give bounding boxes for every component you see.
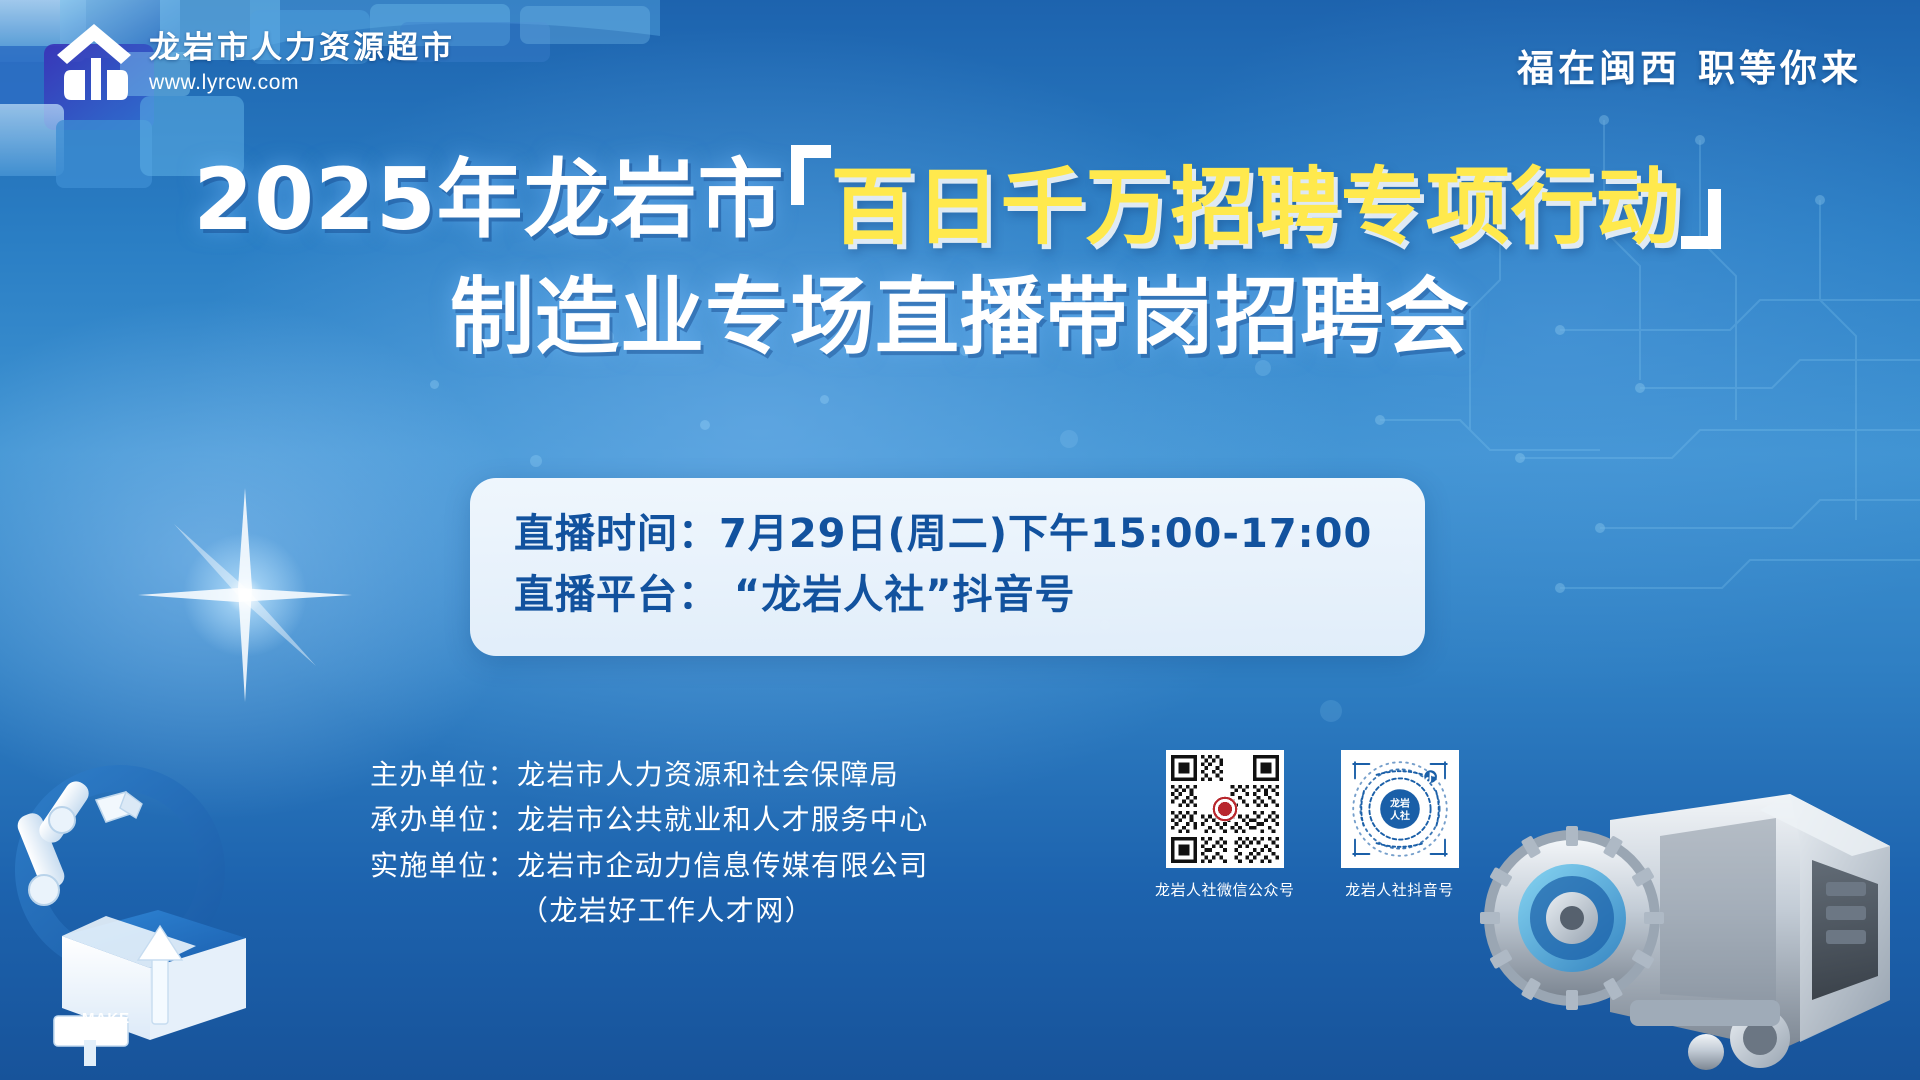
live-info-card: 直播时间：7月29日(周二)下午15:00-17:00 直播平台： “龙岩人社”…	[470, 478, 1425, 656]
building-arrow-logo-icon	[55, 22, 133, 104]
qr-code-douyin-icon[interactable]: 龙岩 人社	[1341, 750, 1459, 868]
make-label: MAKE	[82, 1010, 130, 1027]
slogan-text: 福在闽西 职等你来	[1517, 38, 1862, 92]
title-white-part: 2025年龙岩市	[193, 157, 784, 245]
bokeh-dot	[820, 395, 829, 404]
qr-item-douyin[interactable]: 龙岩 人社 龙岩人社抖音号	[1341, 750, 1459, 900]
credit-implementer-sub: （龙岩好工作人才网）	[370, 888, 929, 933]
bokeh-dot	[1320, 700, 1342, 722]
title-line-1: 2025年龙岩市 百日千万招聘专项行动	[0, 140, 1920, 261]
organizer-credits: 主办单位：龙岩市人力资源和社会保障局 承办单位：龙岩市公共就业和人才服务中心 实…	[370, 752, 929, 933]
qr-code-wechat-icon[interactable]	[1166, 750, 1284, 868]
qr-center-label-1: 龙岩	[1389, 796, 1410, 809]
promotional-banner: 龙岩市人力资源超市 www.lyrcw.com 福在闽西 职等你来 2025年龙…	[0, 0, 1920, 1080]
brand-logo[interactable]: 龙岩市人力资源超市 www.lyrcw.com	[55, 22, 455, 104]
qr-item-wechat[interactable]: 龙岩人社微信公众号	[1155, 750, 1295, 900]
qr-caption-wechat: 龙岩人社微信公众号	[1155, 879, 1295, 900]
live-time-line: 直播时间：7月29日(周二)下午15:00-17:00	[470, 504, 1425, 565]
main-title: 2025年龙岩市 百日千万招聘专项行动 制造业专场直播带岗招聘会	[0, 140, 1920, 361]
credit-implementer: 实施单位：龙岩市企动力信息传媒有限公司	[370, 843, 929, 888]
credit-organizer: 承办单位：龙岩市公共就业和人才服务中心	[370, 797, 929, 842]
gear-machine-icon	[1460, 750, 1920, 1080]
title-subtitle: 制造业专场直播带岗招聘会	[450, 275, 1470, 361]
qr-code-group: 龙岩人社微信公众号	[1155, 750, 1459, 900]
bokeh-dot	[430, 380, 439, 389]
light-burst-icon	[130, 480, 360, 710]
qr-caption-douyin: 龙岩人社抖音号	[1345, 879, 1454, 900]
bracket-close-icon	[1681, 159, 1727, 243]
brand-url[interactable]: www.lyrcw.com	[149, 71, 455, 95]
title-highlight-part: 百日千万招聘专项行动	[831, 140, 1681, 261]
credit-host: 主办单位：龙岩市人力资源和社会保障局	[370, 752, 929, 797]
bracket-open-icon	[785, 159, 831, 243]
bokeh-dot	[700, 420, 710, 430]
bokeh-dot	[530, 455, 542, 467]
live-platform-line: 直播平台： “龙岩人社”抖音号	[470, 565, 1425, 626]
qr-center-label-2: 人社	[1390, 809, 1410, 822]
brand-name: 龙岩市人力资源超市	[149, 31, 455, 66]
title-line-2: 制造业专场直播带岗招聘会	[0, 275, 1920, 361]
bokeh-dot	[1060, 430, 1078, 448]
robot-arm-box-icon	[10, 740, 340, 1070]
